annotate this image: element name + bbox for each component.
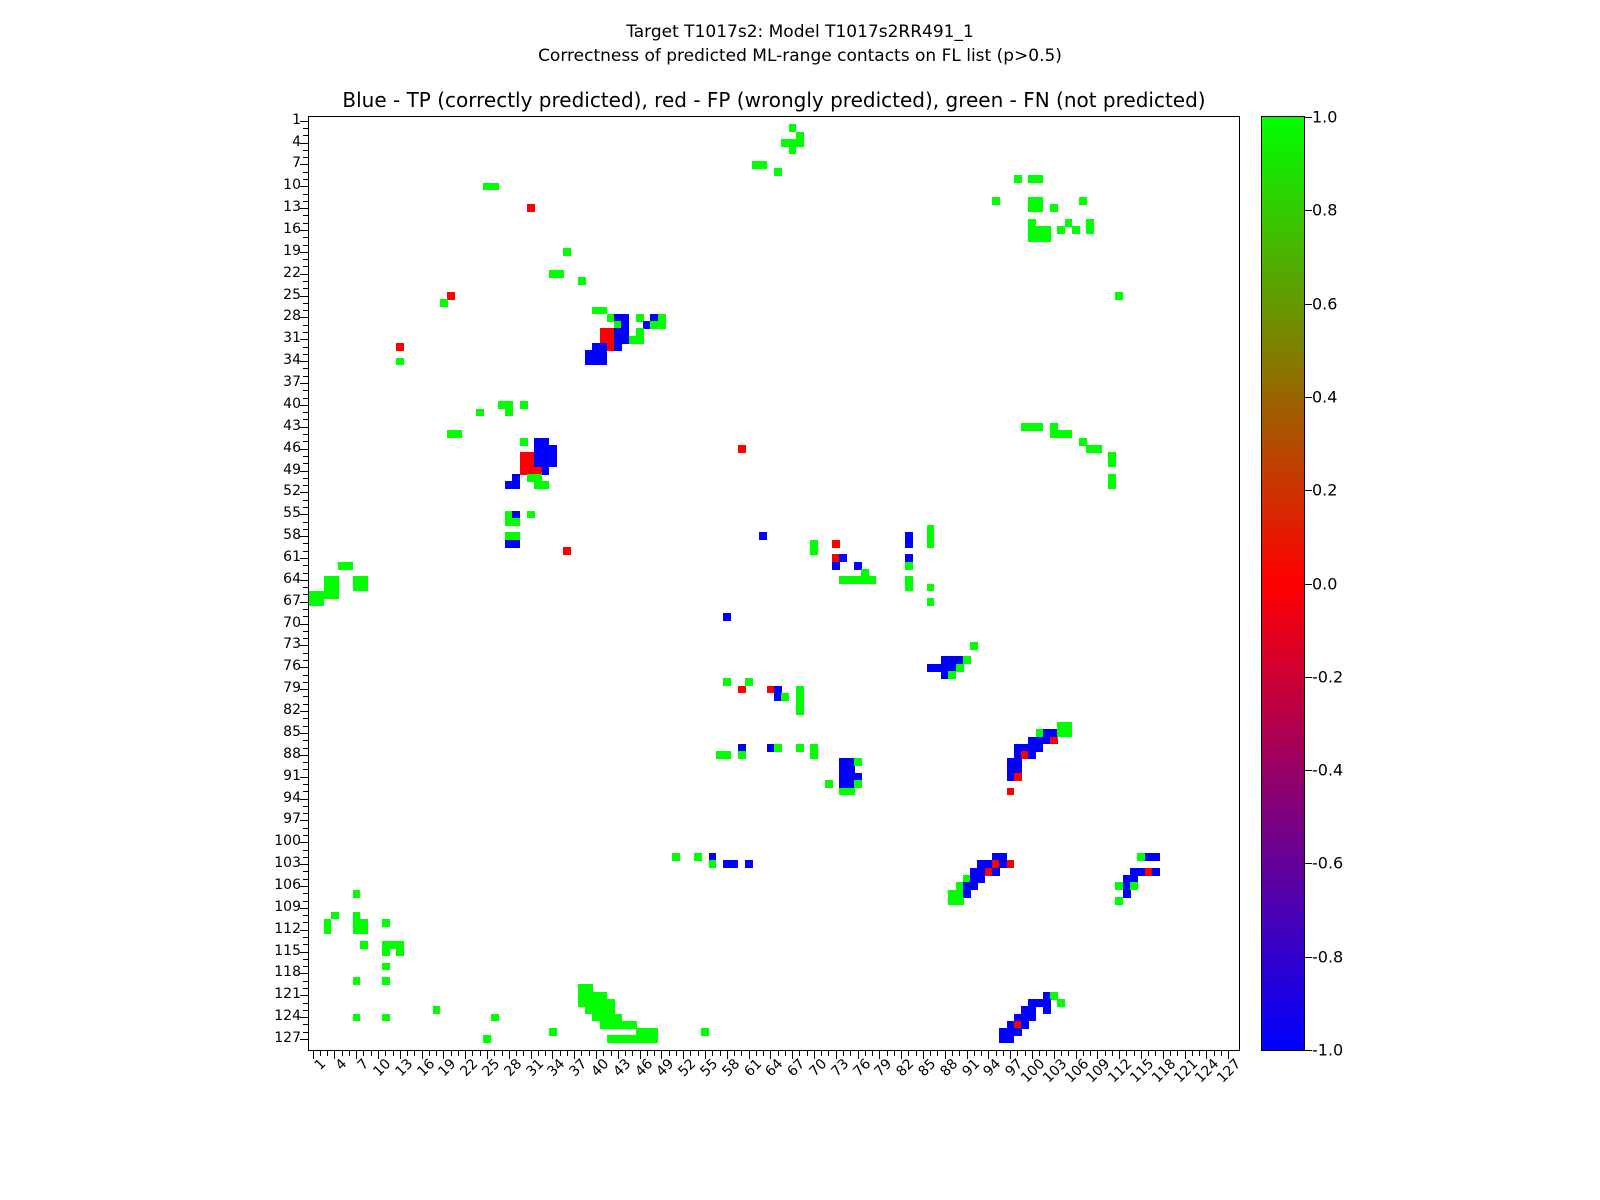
contact-cell-fn [1043, 234, 1051, 242]
y-tick-label: 49 [283, 462, 301, 478]
contact-cell-fn [1094, 445, 1102, 453]
y-tick-label: 115 [274, 943, 301, 959]
contact-cell-tp [963, 890, 971, 898]
contact-cell-tp [839, 554, 847, 562]
y-tick [303, 828, 309, 829]
contact-cell-tp [512, 540, 520, 548]
y-tick [303, 303, 309, 304]
y-tick [303, 128, 309, 129]
y-tick [303, 893, 309, 894]
y-tick [303, 347, 309, 348]
contact-cell-fn [759, 161, 767, 169]
x-tick-label: 1 [311, 1056, 329, 1074]
contact-cell-fn [454, 430, 462, 438]
y-tick [303, 1003, 309, 1004]
y-tick [303, 981, 309, 982]
y-tick [303, 879, 309, 880]
y-tick-label: 1 [292, 112, 301, 128]
y-tick [300, 624, 309, 625]
y-tick [300, 580, 309, 581]
contact-cell-tp [992, 868, 1000, 876]
y-tick-label: 79 [283, 680, 301, 696]
y-tick [303, 201, 309, 202]
contact-cell-fn [810, 751, 818, 759]
y-tick [300, 164, 309, 165]
contact-cell-fn [382, 1014, 390, 1022]
y-tick [300, 405, 309, 406]
colorbar-tick [1305, 957, 1312, 958]
y-tick-label: 43 [283, 418, 301, 434]
contact-cell-fn [520, 401, 528, 409]
y-tick-label: 109 [274, 899, 301, 915]
contact-cell-fn [505, 409, 513, 417]
y-tick [303, 704, 309, 705]
contact-cell-fn [396, 358, 404, 366]
contact-cell-fn [636, 336, 644, 344]
contact-cell-fn [382, 977, 390, 985]
y-tick [303, 791, 309, 792]
contact-cell-fp [738, 445, 746, 453]
y-tick-label: 88 [283, 746, 301, 762]
contact-cell-fn [745, 678, 753, 686]
y-tick-label: 85 [283, 724, 301, 740]
y-tick [303, 675, 309, 676]
y-tick [303, 354, 309, 355]
x-tick-label: 10 [370, 1056, 394, 1080]
colorbar-tick-label: -1.0 [1312, 1041, 1343, 1060]
y-tick [303, 740, 309, 741]
y-tick [300, 383, 309, 384]
x-tick-label: 13 [392, 1056, 416, 1080]
y-tick [303, 784, 309, 785]
y-tick [300, 208, 309, 209]
colorbar-tick [1305, 210, 1312, 211]
y-tick [300, 755, 309, 756]
y-tick [300, 842, 309, 843]
y-tick [300, 602, 309, 603]
contact-cell-tp [512, 481, 520, 489]
y-tick [303, 150, 309, 151]
contact-cell-fn [1086, 226, 1094, 234]
y-tick-label: 10 [283, 177, 301, 193]
contact-cell-tp [600, 358, 608, 366]
y-tick [303, 748, 309, 749]
y-tick [300, 952, 309, 953]
contact-cell-tp [905, 540, 913, 548]
contact-cell-tp [1028, 751, 1036, 759]
x-tick-label: 127 [1214, 1056, 1244, 1086]
axes-title-legend: Blue - TP (correctly predicted), red - F… [308, 88, 1240, 112]
x-tick-label: 37 [567, 1056, 591, 1080]
y-tick [300, 514, 309, 515]
contact-cell-fp [1014, 773, 1022, 781]
y-tick [303, 573, 309, 574]
contact-cell-fn [433, 1006, 441, 1014]
y-tick [303, 616, 309, 617]
contact-cell-fn [825, 780, 833, 788]
y-tick [303, 901, 309, 902]
y-tick-label: 55 [283, 505, 301, 521]
contact-cell-fn [331, 912, 339, 920]
contact-cell-fn [360, 941, 368, 949]
y-tick [303, 398, 309, 399]
colorbar-tick [1305, 770, 1312, 771]
contact-cell-fn [781, 693, 789, 701]
y-tick [300, 799, 309, 800]
y-tick-label: 13 [283, 199, 301, 215]
y-tick [300, 471, 309, 472]
y-tick [303, 631, 309, 632]
y-tick [303, 223, 309, 224]
contact-cell-fp [396, 343, 404, 351]
x-tick-label: 55 [697, 1056, 721, 1080]
contact-cell-tp [745, 860, 753, 868]
contact-cell-fn [796, 139, 804, 147]
y-tick [303, 937, 309, 938]
y-tick [300, 427, 309, 428]
contact-cell-fn [556, 270, 564, 278]
colorbar-tick [1305, 1050, 1312, 1051]
y-tick [303, 434, 309, 435]
suptitle-line-1: Target T1017s2: Model T1017s2RR491_1 [0, 20, 1600, 44]
y-tick-label: 82 [283, 702, 301, 718]
x-tick-label: 52 [676, 1056, 700, 1080]
y-tick [303, 485, 309, 486]
contact-cell-tp [542, 467, 550, 475]
colorbar-tick-label: 0.6 [1312, 294, 1337, 313]
y-tick [303, 988, 309, 989]
y-tick [303, 594, 309, 595]
x-tick-label: 58 [719, 1056, 743, 1080]
x-tick-label: 70 [806, 1056, 830, 1080]
x-tick-label: 67 [785, 1056, 809, 1080]
y-tick [300, 820, 309, 821]
contact-cell-tp [614, 343, 622, 351]
y-tick-label: 58 [283, 527, 301, 543]
contact-cell-fn [854, 780, 862, 788]
y-tick-label: 73 [283, 636, 301, 652]
contact-cell-tp [1152, 853, 1160, 861]
contact-cell-fn [672, 853, 680, 861]
y-tick [303, 813, 309, 814]
y-tick [303, 456, 309, 457]
y-tick [303, 419, 309, 420]
y-tick [300, 536, 309, 537]
x-tick-label: 22 [458, 1056, 482, 1080]
contact-cell-fn [709, 860, 717, 868]
y-tick [300, 930, 309, 931]
contact-cell-fp [1007, 788, 1015, 796]
y-tick-label: 52 [283, 483, 301, 499]
y-tick [303, 332, 309, 333]
contact-cell-fn [854, 758, 862, 766]
contact-cell-fn [789, 146, 797, 154]
y-tick-label: 112 [274, 921, 301, 937]
contact-cell-fn [1065, 729, 1073, 737]
contact-cell-fn [905, 562, 913, 570]
contact-cell-fp [1007, 860, 1015, 868]
y-tick-label: 97 [283, 811, 301, 827]
contact-cell-fn [382, 963, 390, 971]
y-tick [303, 551, 309, 552]
colorbar-tick-labels: 1.00.80.60.40.20.0-0.2-0.4-0.6-0.8-1.0 [1312, 116, 1392, 1051]
contact-cell-fn [810, 547, 818, 555]
y-tick [303, 1032, 309, 1033]
contact-cell-fn [650, 1035, 658, 1043]
contact-cell-fn [324, 926, 332, 934]
y-tick [303, 266, 309, 267]
contact-cell-fp [738, 686, 746, 694]
y-tick [303, 215, 309, 216]
contact-cell-fn [796, 707, 804, 715]
y-tick [303, 653, 309, 654]
y-tick [303, 288, 309, 289]
y-tick [300, 864, 309, 865]
y-tick [300, 274, 309, 275]
y-tick-label: 103 [274, 855, 301, 871]
y-tick [303, 966, 309, 967]
y-tick [303, 441, 309, 442]
y-tick [303, 806, 309, 807]
contact-cell-fn [331, 591, 339, 599]
colorbar-tick [1305, 490, 1312, 491]
colorbar-tick-label: 0.2 [1312, 481, 1337, 500]
contact-cell-fn [316, 598, 324, 606]
y-tick [303, 915, 309, 916]
colorbar-tick-label: -0.2 [1312, 667, 1343, 686]
contact-cell-fn [738, 751, 746, 759]
x-tick-label: 28 [501, 1056, 525, 1080]
y-tick-label: 7 [292, 155, 301, 171]
y-tick [300, 186, 309, 187]
contact-cell-fn [345, 562, 353, 570]
y-tick-label: 91 [283, 768, 301, 784]
y-tick [303, 194, 309, 195]
y-tick [303, 172, 309, 173]
contact-cell-fn [956, 664, 964, 672]
y-tick [300, 317, 309, 318]
x-tick-label: 94 [981, 1056, 1005, 1080]
y-tick [303, 696, 309, 697]
contact-cell-tp [1021, 1021, 1029, 1029]
contact-cell-fn [1108, 460, 1116, 468]
y-tick [303, 922, 309, 923]
x-tick-label: 25 [479, 1056, 503, 1080]
y-tick [303, 726, 309, 727]
contact-cell-fn [723, 751, 731, 759]
y-tick-label: 31 [283, 330, 301, 346]
y-tick-label: 22 [283, 265, 301, 281]
colorbar-tick [1305, 863, 1312, 864]
contact-cell-fn [927, 584, 935, 592]
contact-cell-tp [723, 613, 731, 621]
y-tick-label: 127 [274, 1030, 301, 1046]
x-tick-label: 88 [937, 1056, 961, 1080]
contact-cell-fn [578, 277, 586, 285]
colorbar-tick-label: 0.8 [1312, 201, 1337, 220]
y-tick [303, 857, 309, 858]
y-tick [300, 645, 309, 646]
y-tick-label: 40 [283, 396, 301, 412]
y-tick [303, 325, 309, 326]
y-tick [303, 609, 309, 610]
colorbar-tick-label: -0.8 [1312, 947, 1343, 966]
y-tick [303, 179, 309, 180]
y-tick [303, 835, 309, 836]
y-tick-label: 100 [274, 833, 301, 849]
y-tick [303, 850, 309, 851]
y-tick [300, 689, 309, 690]
contact-map-plot [308, 116, 1240, 1051]
contact-cell-fn [694, 853, 702, 861]
y-tick [303, 412, 309, 413]
y-tick [300, 1017, 309, 1018]
colorbar-tick [1305, 677, 1312, 678]
y-tick-label: 4 [292, 134, 301, 150]
y-tick-label: 70 [283, 615, 301, 631]
contact-cell-fn [542, 481, 550, 489]
x-tick-label: 73 [828, 1056, 852, 1080]
contact-cell-fn [563, 248, 571, 256]
contact-cell-fn [549, 1028, 557, 1036]
y-tick [303, 237, 309, 238]
y-tick [300, 733, 309, 734]
y-tick-label: 19 [283, 243, 301, 259]
y-tick [303, 769, 309, 770]
x-tick-label: 85 [915, 1056, 939, 1080]
y-tick [303, 682, 309, 683]
x-tick-label: 40 [588, 1056, 612, 1080]
colorbar-tick-label: -0.4 [1312, 761, 1343, 780]
y-tick [300, 361, 309, 362]
colorbar-tick-label: 0.0 [1312, 574, 1337, 593]
y-tick-label: 94 [283, 790, 301, 806]
contact-cell-tp [549, 460, 557, 468]
contact-cell-fn [491, 183, 499, 191]
contact-cell-fp [1050, 737, 1058, 745]
y-tick [303, 281, 309, 282]
y-tick-label: 28 [283, 308, 301, 324]
y-tick [300, 230, 309, 231]
contact-cell-fn [512, 518, 520, 526]
contact-cell-fn [1115, 292, 1123, 300]
y-tick [303, 390, 309, 391]
y-axis-labels: 1471013161922252831343740434649525558616… [268, 116, 301, 1051]
contact-cell-fn [1115, 897, 1123, 905]
contact-cell-fn [723, 678, 731, 686]
y-tick [300, 1039, 309, 1040]
y-tick [303, 871, 309, 872]
y-tick [303, 529, 309, 530]
y-tick [303, 1024, 309, 1025]
colorbar-tick-label: 0.4 [1312, 387, 1337, 406]
contact-cell-fn [963, 656, 971, 664]
contact-cell-tp [970, 882, 978, 890]
contact-cell-tp [759, 532, 767, 540]
y-tick [303, 310, 309, 311]
contact-cell-fn [353, 977, 361, 985]
y-tick [303, 478, 309, 479]
y-tick [300, 492, 309, 493]
suptitle-line-2: Correctness of predicted ML-range contac… [0, 44, 1600, 68]
contact-cell-fn [1050, 204, 1058, 212]
x-tick-label: 43 [610, 1056, 634, 1080]
contact-cell-fn [382, 948, 390, 956]
contact-cell-fn [868, 576, 876, 584]
contact-cell-fn [970, 642, 978, 650]
contact-cell-fn [483, 1035, 491, 1043]
colorbar-ticks [1261, 116, 1305, 1051]
contact-cell-fn [927, 540, 935, 548]
y-tick-label: 46 [283, 440, 301, 456]
y-tick [303, 1010, 309, 1011]
y-tick [303, 660, 309, 661]
contact-cell-fn [948, 671, 956, 679]
contact-cell-fn [1057, 999, 1065, 1007]
y-tick [300, 449, 309, 450]
contact-cell-fn [491, 1014, 499, 1022]
y-tick [303, 376, 309, 377]
contact-cell-fn [774, 744, 782, 752]
contact-cell-fn [396, 948, 404, 956]
y-tick [303, 259, 309, 260]
y-tick [303, 135, 309, 136]
contact-cell-fn [992, 197, 1000, 205]
contact-cell-fn [520, 438, 528, 446]
contact-cell-tp [1014, 1028, 1022, 1036]
y-tick-label: 121 [274, 986, 301, 1002]
contact-cell-fn [527, 511, 535, 519]
contact-cell-fn [1072, 226, 1080, 234]
contact-cell-fn [382, 919, 390, 927]
y-tick [300, 973, 309, 974]
y-tick [303, 565, 309, 566]
contact-cell-fn [905, 584, 913, 592]
contact-cell-fn [1057, 226, 1065, 234]
y-tick [303, 522, 309, 523]
y-tick-label: 67 [283, 593, 301, 609]
contact-cell-tp [977, 875, 985, 883]
y-tick [303, 507, 309, 508]
contact-cell-fn [353, 890, 361, 898]
contact-cell-fn [796, 744, 804, 752]
y-tick [300, 339, 309, 340]
y-tick [303, 587, 309, 588]
contact-cell-tp [1123, 890, 1131, 898]
y-tick-label: 118 [274, 964, 301, 980]
y-tick-label: 25 [283, 287, 301, 303]
x-tick-label: 4 [333, 1056, 351, 1074]
contact-cell-fn [774, 168, 782, 176]
contact-cell-tp [730, 860, 738, 868]
contact-cell-fn [658, 321, 666, 329]
y-tick [300, 908, 309, 909]
x-axis-labels: 1471013161922252831343740434649525558616… [308, 1056, 1240, 1146]
contact-cells-layer [309, 117, 1239, 1050]
colorbar-tick [1305, 117, 1312, 118]
contact-cell-fn [927, 598, 935, 606]
colorbar-tick-label: -0.6 [1312, 854, 1343, 873]
x-tick-label: 7 [355, 1056, 373, 1074]
figure-suptitle: Target T1017s2: Model T1017s2RR491_1 Cor… [0, 20, 1600, 68]
y-tick [303, 543, 309, 544]
contact-cell-fp [563, 547, 571, 555]
contact-cell-fn [1130, 882, 1138, 890]
contact-cell-tp [1036, 744, 1044, 752]
contact-cell-fn [476, 409, 484, 417]
contact-cell-fn [956, 897, 964, 905]
y-tick [303, 463, 309, 464]
